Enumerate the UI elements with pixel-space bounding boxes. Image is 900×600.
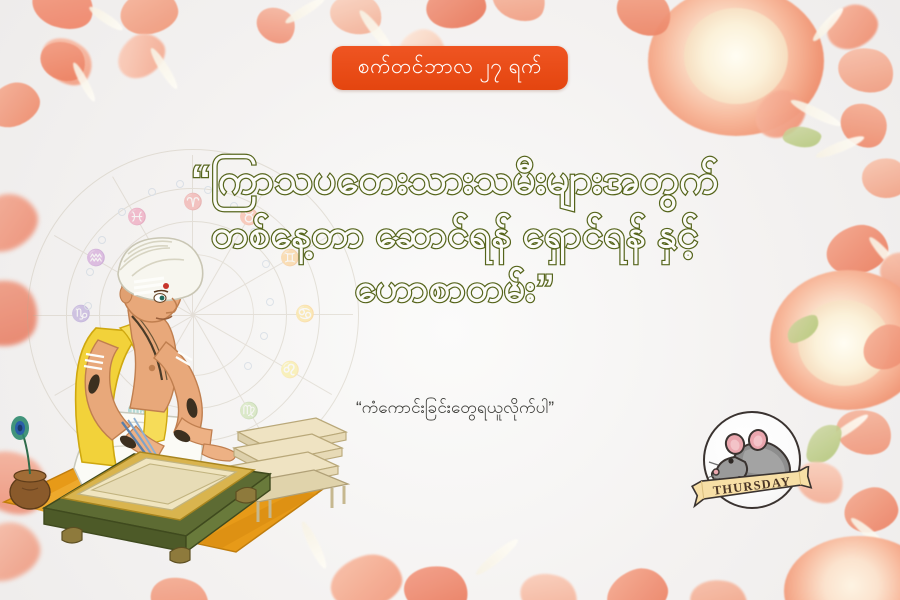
desk-foot xyxy=(170,547,190,563)
carnation-bloom-core xyxy=(684,8,788,104)
poster-canvas: ♈ ♉ ♊ ♋ ♌ ♍ ♎ ♏ ♐ ♑ ♒ ♓ xyxy=(0,0,900,600)
day-badge: THURSDAY xyxy=(703,411,815,529)
wheel-dot xyxy=(176,180,184,188)
headline-block: “ကြာသပတေးသားသမီးများအတွက် တစ်နေ့တာ ဆောင်… xyxy=(190,152,720,317)
clay-pot xyxy=(10,470,50,509)
tilak-dot xyxy=(163,283,169,289)
date-badge: စက်တင်ဘာလ ၂၇ ရက် xyxy=(332,46,568,90)
pupil xyxy=(160,296,165,301)
wheel-dot xyxy=(118,208,126,216)
headline-line-2: တစ်နေ့တာ ဆောင်ရန် ရှောင်ရန် နှင့် xyxy=(190,209,720,263)
navel xyxy=(149,365,155,371)
desk-foot xyxy=(236,487,256,503)
headline-line-1: “ကြာသပတေးသားသမီးများအတွက် xyxy=(190,152,720,209)
desk-foot xyxy=(62,527,82,543)
headline-line-3: ဟောစာတမ်း” xyxy=(190,263,720,317)
wheel-dot xyxy=(148,188,156,196)
hand-right xyxy=(202,444,235,461)
subtitle: “ကံကောင်းခြင်းတွေရယူလိုက်ပါ” xyxy=(190,396,720,420)
peacock-feather-icon xyxy=(11,416,30,474)
zodiac-glyph-icon: ♓ xyxy=(120,201,154,235)
